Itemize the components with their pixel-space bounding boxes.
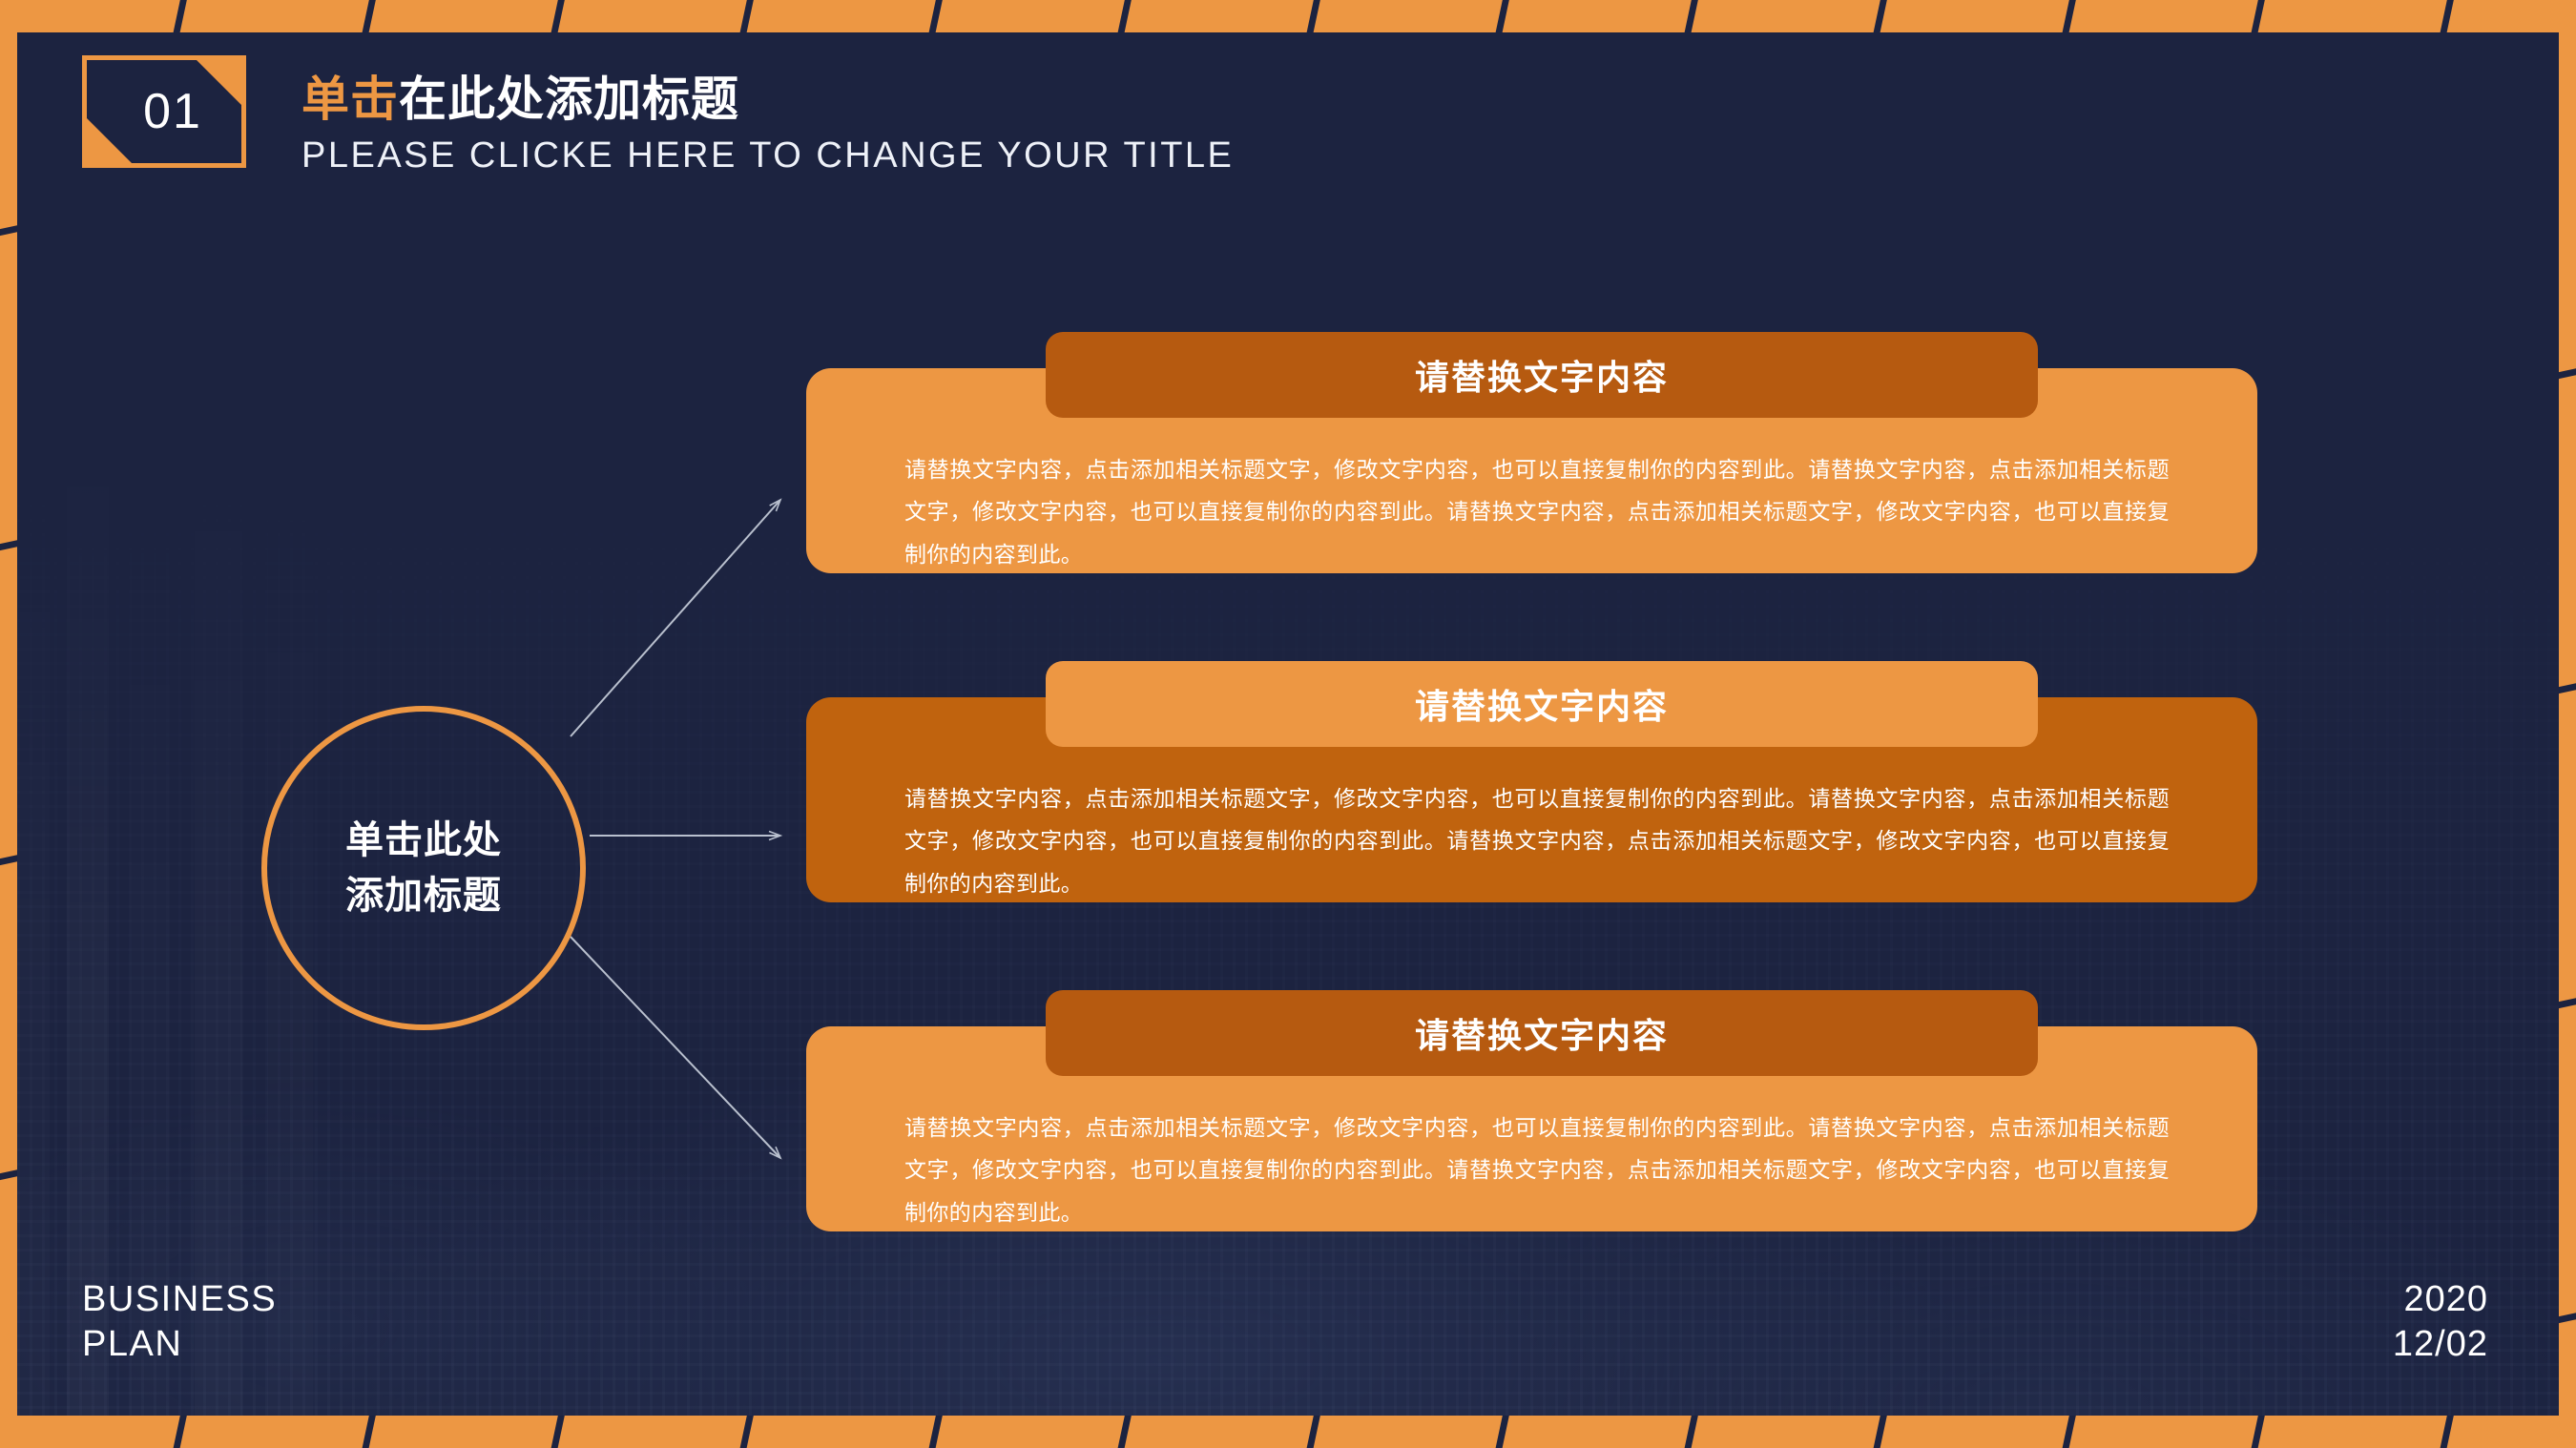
frame-band-left	[0, 0, 17, 1448]
footer-brand-line-2: PLAN	[82, 1322, 277, 1366]
card-1-tab[interactable]: 请替换文字内容	[1046, 332, 2038, 418]
card-1-tab-title: 请替换文字内容	[1415, 350, 1669, 400]
card-2-body-text: 请替换文字内容，点击添加相关标题文字，修改文字内容，也可以直接复制你的内容到此。…	[904, 777, 2170, 904]
section-number-badge: 01	[82, 55, 246, 168]
footer-date: 2020 12/02	[2393, 1277, 2488, 1366]
page-title: 单击在此处添加标题	[301, 72, 1234, 126]
content-card-1[interactable]: 请替换文字内容 请替换文字内容，点击添加相关标题文字，修改文字内容，也可以直接复…	[806, 368, 2257, 573]
slide-stage: 01 单击在此处添加标题 PLEASE CLICKE HERE TO CHANG…	[17, 32, 2559, 1416]
hub-circle[interactable]: 单击此处 添加标题	[261, 706, 586, 1030]
hub-title-line-2: 添加标题	[345, 868, 502, 923]
footer-date-day: 12/02	[2393, 1322, 2488, 1366]
footer-brand-line-1: BUSINESS	[82, 1277, 277, 1321]
page-title-rest: 在此处添加标题	[399, 72, 739, 126]
hub-title-line-1: 单击此处	[345, 813, 502, 868]
badge-number-label: 01	[82, 55, 246, 168]
footer-brand: BUSINESS PLAN	[82, 1277, 277, 1366]
card-2-tab[interactable]: 请替换文字内容	[1046, 661, 2038, 747]
header-title-block: 单击在此处添加标题 PLEASE CLICKE HERE TO CHANGE Y…	[301, 72, 1234, 176]
card-1-body-text: 请替换文字内容，点击添加相关标题文字，修改文字内容，也可以直接复制你的内容到此。…	[904, 448, 2170, 575]
content-card-2[interactable]: 请替换文字内容 请替换文字内容，点击添加相关标题文字，修改文字内容，也可以直接复…	[806, 697, 2257, 902]
page-title-highlight: 单击	[301, 72, 399, 126]
footer-date-year: 2020	[2393, 1277, 2488, 1321]
frame-band-top	[0, 0, 2576, 32]
connector-line-1	[571, 500, 780, 736]
presentation-slide: 01 单击在此处添加标题 PLEASE CLICKE HERE TO CHANG…	[0, 0, 2576, 1448]
frame-band-right	[2559, 0, 2576, 1448]
card-3-body-text: 请替换文字内容，点击添加相关标题文字，修改文字内容，也可以直接复制你的内容到此。…	[904, 1107, 2170, 1233]
content-card-3[interactable]: 请替换文字内容 请替换文字内容，点击添加相关标题文字，修改文字内容，也可以直接复…	[806, 1026, 2257, 1231]
card-3-tab-title: 请替换文字内容	[1415, 1008, 1669, 1058]
connector-line-3	[571, 937, 780, 1158]
card-3-tab[interactable]: 请替换文字内容	[1046, 990, 2038, 1076]
page-subtitle: PLEASE CLICKE HERE TO CHANGE YOUR TITLE	[301, 135, 1234, 176]
frame-band-bottom	[0, 1416, 2576, 1448]
card-2-tab-title: 请替换文字内容	[1415, 679, 1669, 729]
